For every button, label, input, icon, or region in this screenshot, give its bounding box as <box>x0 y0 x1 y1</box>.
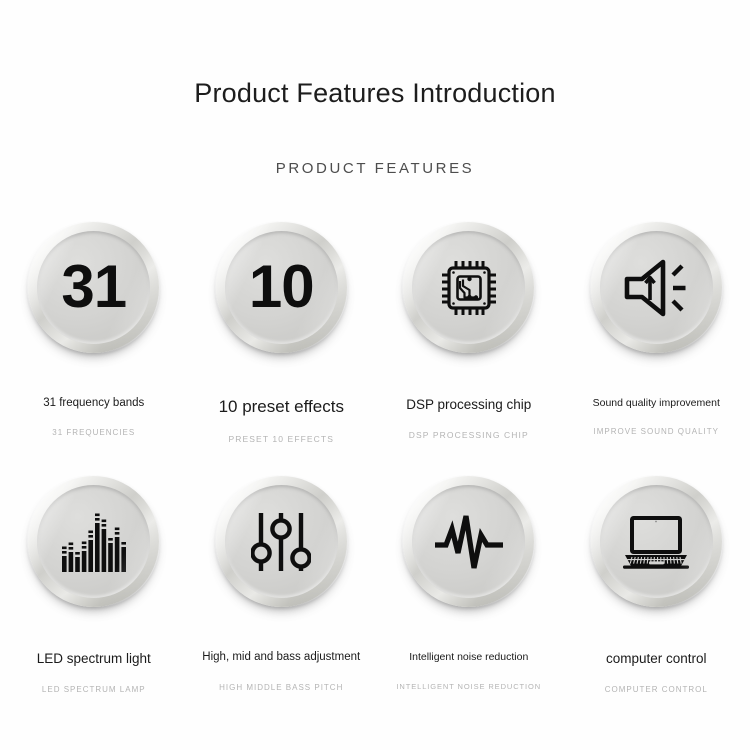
feature-label: Sound quality improvement <box>593 397 720 410</box>
laptop-icon <box>620 506 692 578</box>
chip-icon <box>433 252 505 324</box>
feature-disc <box>216 476 347 607</box>
disc-face <box>37 485 150 598</box>
disc-face <box>600 231 713 344</box>
feature-sublabel: COMPUTER CONTROL <box>605 685 708 694</box>
disc-face <box>412 485 525 598</box>
features-grid: 31 31 frequency bands 31 FREQUENCIES 10 … <box>0 218 750 734</box>
feature-disc <box>403 222 534 353</box>
disc-face <box>225 485 338 598</box>
spectrum-bars-icon <box>58 506 130 578</box>
page-subtitle: PRODUCT FEATURES <box>0 160 750 177</box>
feature-disc <box>591 476 722 607</box>
feature-card-preset-effects: 10 10 preset effects PRESET 10 EFFECTS <box>188 218 376 476</box>
feature-card-frequency-bands: 31 31 frequency bands 31 FREQUENCIES <box>0 218 188 476</box>
feature-card-eq-adjustment: High, mid and bass adjustment HIGH MIDDL… <box>188 476 376 734</box>
disc-face <box>600 485 713 598</box>
feature-card-dsp-chip: DSP processing chip DSP PROCESSING CHIP <box>375 218 563 476</box>
feature-card-sound-quality: Sound quality improvement IMPROVE SOUND … <box>563 218 750 476</box>
disc-face: 31 <box>37 231 150 344</box>
feature-sublabel: 31 FREQUENCIES <box>52 428 135 437</box>
feature-disc <box>28 476 159 607</box>
sliders-icon <box>245 506 317 578</box>
feature-disc: 10 <box>216 222 347 353</box>
feature-sublabel: IMPROVE SOUND QUALITY <box>594 427 719 436</box>
feature-sublabel: LED SPECTRUM LAMP <box>42 685 146 694</box>
feature-label: LED spectrum light <box>37 651 151 667</box>
feature-label: computer control <box>606 651 707 667</box>
feature-label: Intelligent noise reduction <box>409 651 528 664</box>
feature-disc <box>591 222 722 353</box>
feature-disc <box>403 476 534 607</box>
speaker-volume-up-icon <box>620 252 692 324</box>
feature-sublabel: PRESET 10 EFFECTS <box>229 434 334 444</box>
page-title: Product Features Introduction <box>0 78 750 109</box>
disc-face: 10 <box>225 231 338 344</box>
feature-label: High, mid and bass adjustment <box>202 651 360 665</box>
disc-face <box>412 231 525 344</box>
product-features-poster: Product Features Introduction PRODUCT FE… <box>0 0 750 750</box>
feature-disc: 31 <box>28 222 159 353</box>
feature-card-noise-reduction: Intelligent noise reduction INTELLIGENT … <box>375 476 563 734</box>
feature-card-led-spectrum: LED spectrum light LED SPECTRUM LAMP <box>0 476 188 734</box>
feature-sublabel: DSP PROCESSING CHIP <box>409 430 529 440</box>
badge-number: 31 <box>61 257 126 317</box>
feature-sublabel: INTELLIGENT NOISE REDUCTION <box>396 682 541 691</box>
waveform-icon <box>433 506 505 578</box>
feature-label: 10 preset effects <box>219 397 344 417</box>
badge-number: 10 <box>249 257 314 317</box>
feature-sublabel: HIGH MIDDLE BASS PITCH <box>219 683 343 692</box>
feature-card-computer-control: computer control COMPUTER CONTROL <box>563 476 750 734</box>
feature-label: 31 frequency bands <box>43 397 144 411</box>
feature-label: DSP processing chip <box>406 397 531 413</box>
